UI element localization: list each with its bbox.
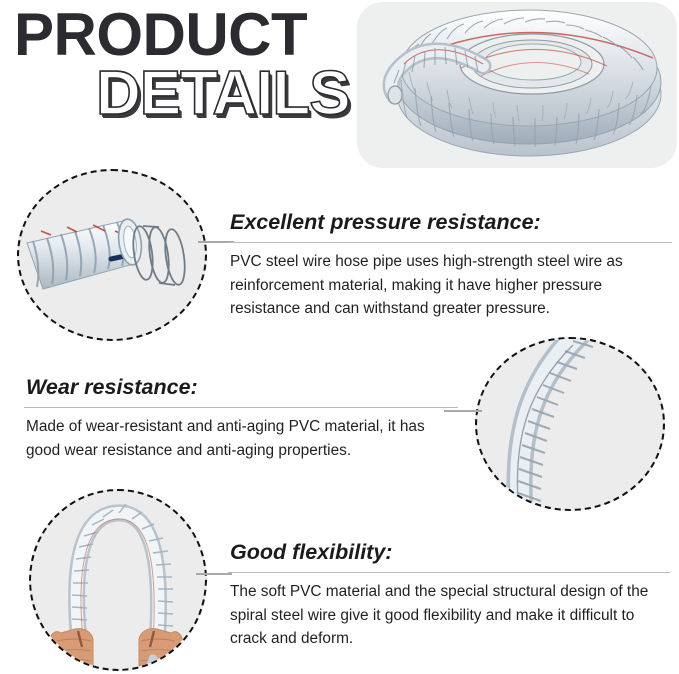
feature-body-flexibility: The soft PVC material and the special st… bbox=[228, 580, 672, 651]
detail-image-flexibility bbox=[29, 489, 207, 671]
right-hand bbox=[139, 629, 183, 669]
feature-heading-wear: Wear resistance: bbox=[24, 374, 460, 403]
hands-bending-hose-icon bbox=[31, 491, 205, 669]
heading-rule-flexibility bbox=[228, 572, 670, 573]
detail-image-wear bbox=[475, 337, 665, 511]
left-hand bbox=[49, 629, 93, 669]
title-line-details: DETAILS bbox=[96, 59, 350, 129]
hose-cut-end-with-steel-spiral-icon bbox=[19, 171, 205, 339]
feature-heading-flexibility: Good flexibility: bbox=[228, 539, 672, 568]
feature-block-wear: Wear resistance: Made of wear-resistant … bbox=[24, 374, 460, 462]
feature-body-wear: Made of wear-resistant and anti-aging PV… bbox=[24, 415, 460, 462]
product-details-infographic: PRODUCT DETAILS bbox=[0, 0, 679, 674]
product-photo-panel bbox=[357, 2, 677, 168]
connector-line-flexibility bbox=[196, 573, 232, 575]
feature-block-flexibility: Good flexibility: The soft PVC material … bbox=[228, 539, 672, 651]
detail-image-pressure bbox=[17, 169, 207, 341]
feature-body-pressure: PVC steel wire hose pipe uses high-stren… bbox=[228, 250, 674, 321]
heading-rule-pressure bbox=[228, 242, 672, 243]
page-title: PRODUCT DETAILS bbox=[14, 2, 359, 137]
feature-heading-pressure: Excellent pressure resistance: bbox=[228, 209, 674, 238]
curved-hose-section-icon bbox=[477, 339, 663, 509]
feature-block-pressure: Excellent pressure resistance: PVC steel… bbox=[228, 209, 674, 321]
coiled-hose-image bbox=[357, 2, 677, 168]
heading-rule-wear bbox=[24, 407, 458, 408]
